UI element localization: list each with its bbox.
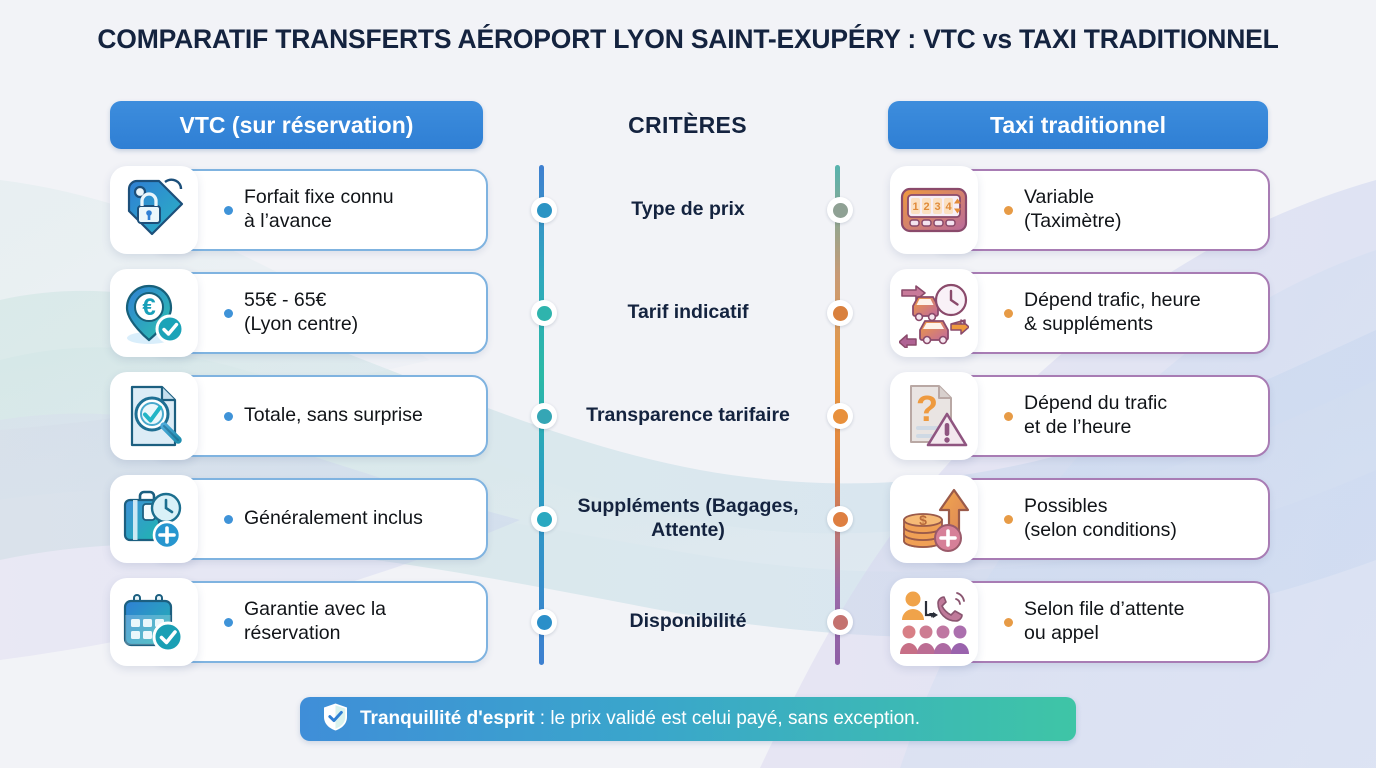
taxi-card-3: Possibles (selon conditions): [930, 478, 1270, 560]
svg-text:1: 1: [912, 201, 918, 213]
svg-text:2: 2: [923, 201, 929, 213]
vtc-card-body-1: 55€ - 65€ (Lyon centre): [224, 274, 474, 352]
luggage-clock-plus-icon: [119, 484, 189, 554]
svg-text:$: $: [919, 512, 927, 528]
taxi-icon-box-4: [890, 578, 978, 666]
footer-text-rest: : le prix validé est celui payé, sans ex…: [535, 708, 920, 729]
column-header-criteria: CRITÈRES: [530, 101, 845, 149]
bullet-icon: [1004, 618, 1013, 627]
svg-text:3: 3: [934, 201, 940, 213]
taxi-card-4: Selon file d’attente ou appel: [930, 581, 1270, 663]
vtc-icon-box-0: [110, 166, 198, 254]
taxi-icon-box-2: ?: [890, 372, 978, 460]
svg-text:4: 4: [945, 201, 952, 213]
vtc-card-body-0: Forfait fixe connu à l’avance: [224, 171, 474, 249]
question-document-warning-icon: ?: [899, 381, 969, 451]
rail-dot-left-4: [531, 609, 557, 635]
taxi-card-0: Variable (Taximètre): [930, 169, 1270, 251]
vtc-card-body-3: Généralement inclus: [224, 480, 474, 558]
bullet-icon: [224, 412, 233, 421]
taxi-card-text-2: Dépend du trafic et de l’heure: [1024, 392, 1167, 440]
document-magnifier-check-icon: [119, 381, 189, 451]
column-header-vtc: VTC (sur réservation): [110, 101, 483, 149]
vtc-card-2: Totale, sans surprise: [150, 375, 488, 457]
criterion-label-4: Disponibilité: [560, 581, 816, 663]
vtc-icon-box-1: €: [110, 269, 198, 357]
taxi-card-text-1: Dépend trafic, heure & suppléments: [1024, 289, 1201, 337]
taxi-card-1: Dépend trafic, heure & suppléments: [930, 272, 1270, 354]
rail-dot-left-3: [531, 506, 557, 532]
taxi-card-2: Dépend du trafic et de l’heure: [930, 375, 1270, 457]
taxi-card-body-0: Variable (Taximètre): [1004, 171, 1256, 249]
column-header-vtc-label: VTC (sur réservation): [180, 112, 414, 139]
footer-text: Tranquillité d'esprit : le prix validé e…: [360, 708, 920, 730]
taxi-card-text-3: Possibles (selon conditions): [1024, 495, 1177, 543]
rail-dot-left-2: [531, 403, 557, 429]
vtc-card-1: 55€ - 65€ (Lyon centre): [150, 272, 488, 354]
vtc-card-text-2: Totale, sans surprise: [244, 404, 423, 428]
bullet-icon: [224, 618, 233, 627]
price-tag-lock-icon: [119, 175, 189, 245]
vtc-card-4: Garantie avec la réservation: [150, 581, 488, 663]
vtc-card-text-1: 55€ - 65€ (Lyon centre): [244, 289, 358, 337]
taxi-card-body-4: Selon file d’attente ou appel: [1004, 583, 1256, 661]
rail-dot-right-2: [827, 403, 853, 429]
rail-dot-left-0: [531, 197, 557, 223]
bullet-icon: [1004, 309, 1013, 318]
queue-people-phone-icon: [899, 587, 969, 657]
footer-text-strong: Tranquillité d'esprit: [360, 708, 535, 729]
taxi-icon-box-3: $: [890, 475, 978, 563]
vtc-card-0: Forfait fixe connu à l’avance: [150, 169, 488, 251]
criterion-label-2: Transparence tarifaire: [560, 375, 816, 457]
vtc-icon-box-4: [110, 578, 198, 666]
infographic-canvas: COMPARATIF TRANSFERTS AÉROPORT LYON SAIN…: [0, 0, 1376, 768]
bullet-icon: [1004, 412, 1013, 421]
column-header-criteria-label: CRITÈRES: [628, 112, 747, 139]
column-header-taxi-label: Taxi traditionnel: [990, 112, 1166, 139]
svg-text:€: €: [142, 294, 155, 321]
vtc-card-body-2: Totale, sans surprise: [224, 377, 474, 455]
bullet-icon: [224, 515, 233, 524]
taxi-card-body-3: Possibles (selon conditions): [1004, 480, 1256, 558]
taxi-icon-box-1: [890, 269, 978, 357]
rail-dot-right-1: [827, 300, 853, 326]
taximeter-icon: 1 2 3 4: [899, 175, 969, 245]
shield-check-icon: [322, 702, 349, 737]
criterion-label-0: Type de prix: [560, 169, 816, 251]
taxi-card-body-2: Dépend du trafic et de l’heure: [1004, 377, 1256, 455]
taxi-card-text-0: Variable (Taximètre): [1024, 186, 1122, 234]
page-title: COMPARATIF TRANSFERTS AÉROPORT LYON SAIN…: [0, 24, 1376, 55]
traffic-cars-clock-icon: [899, 278, 969, 348]
column-header-taxi: Taxi traditionnel: [888, 101, 1268, 149]
vtc-card-text-4: Garantie avec la réservation: [244, 598, 386, 646]
vtc-card-text-0: Forfait fixe connu à l’avance: [244, 186, 394, 234]
footer-banner: Tranquillité d'esprit : le prix validé e…: [300, 697, 1076, 741]
bullet-icon: [1004, 206, 1013, 215]
rail-dot-right-4: [827, 609, 853, 635]
rail-dot-left-1: [531, 300, 557, 326]
vtc-icon-box-2: [110, 372, 198, 460]
vtc-card-3: Généralement inclus: [150, 478, 488, 560]
bullet-icon: [224, 309, 233, 318]
bullet-icon: [1004, 515, 1013, 524]
criterion-label-1: Tarif indicatif: [560, 272, 816, 354]
rail-dot-right-0: [827, 197, 853, 223]
coins-arrow-up-plus-icon: $: [899, 484, 969, 554]
criterion-label-3: Suppléments (Bagages, Attente): [560, 478, 816, 560]
vtc-icon-box-3: [110, 475, 198, 563]
calendar-check-icon: [119, 587, 189, 657]
bullet-icon: [224, 206, 233, 215]
euro-location-pin-check-icon: €: [119, 278, 189, 348]
taxi-card-body-1: Dépend trafic, heure & suppléments: [1004, 274, 1256, 352]
vtc-card-text-3: Généralement inclus: [244, 507, 423, 531]
taxi-icon-box-0: 1 2 3 4: [890, 166, 978, 254]
rail-dot-right-3: [827, 506, 853, 532]
taxi-card-text-4: Selon file d’attente ou appel: [1024, 598, 1184, 646]
svg-text:?: ?: [916, 388, 938, 429]
vtc-card-body-4: Garantie avec la réservation: [224, 583, 474, 661]
